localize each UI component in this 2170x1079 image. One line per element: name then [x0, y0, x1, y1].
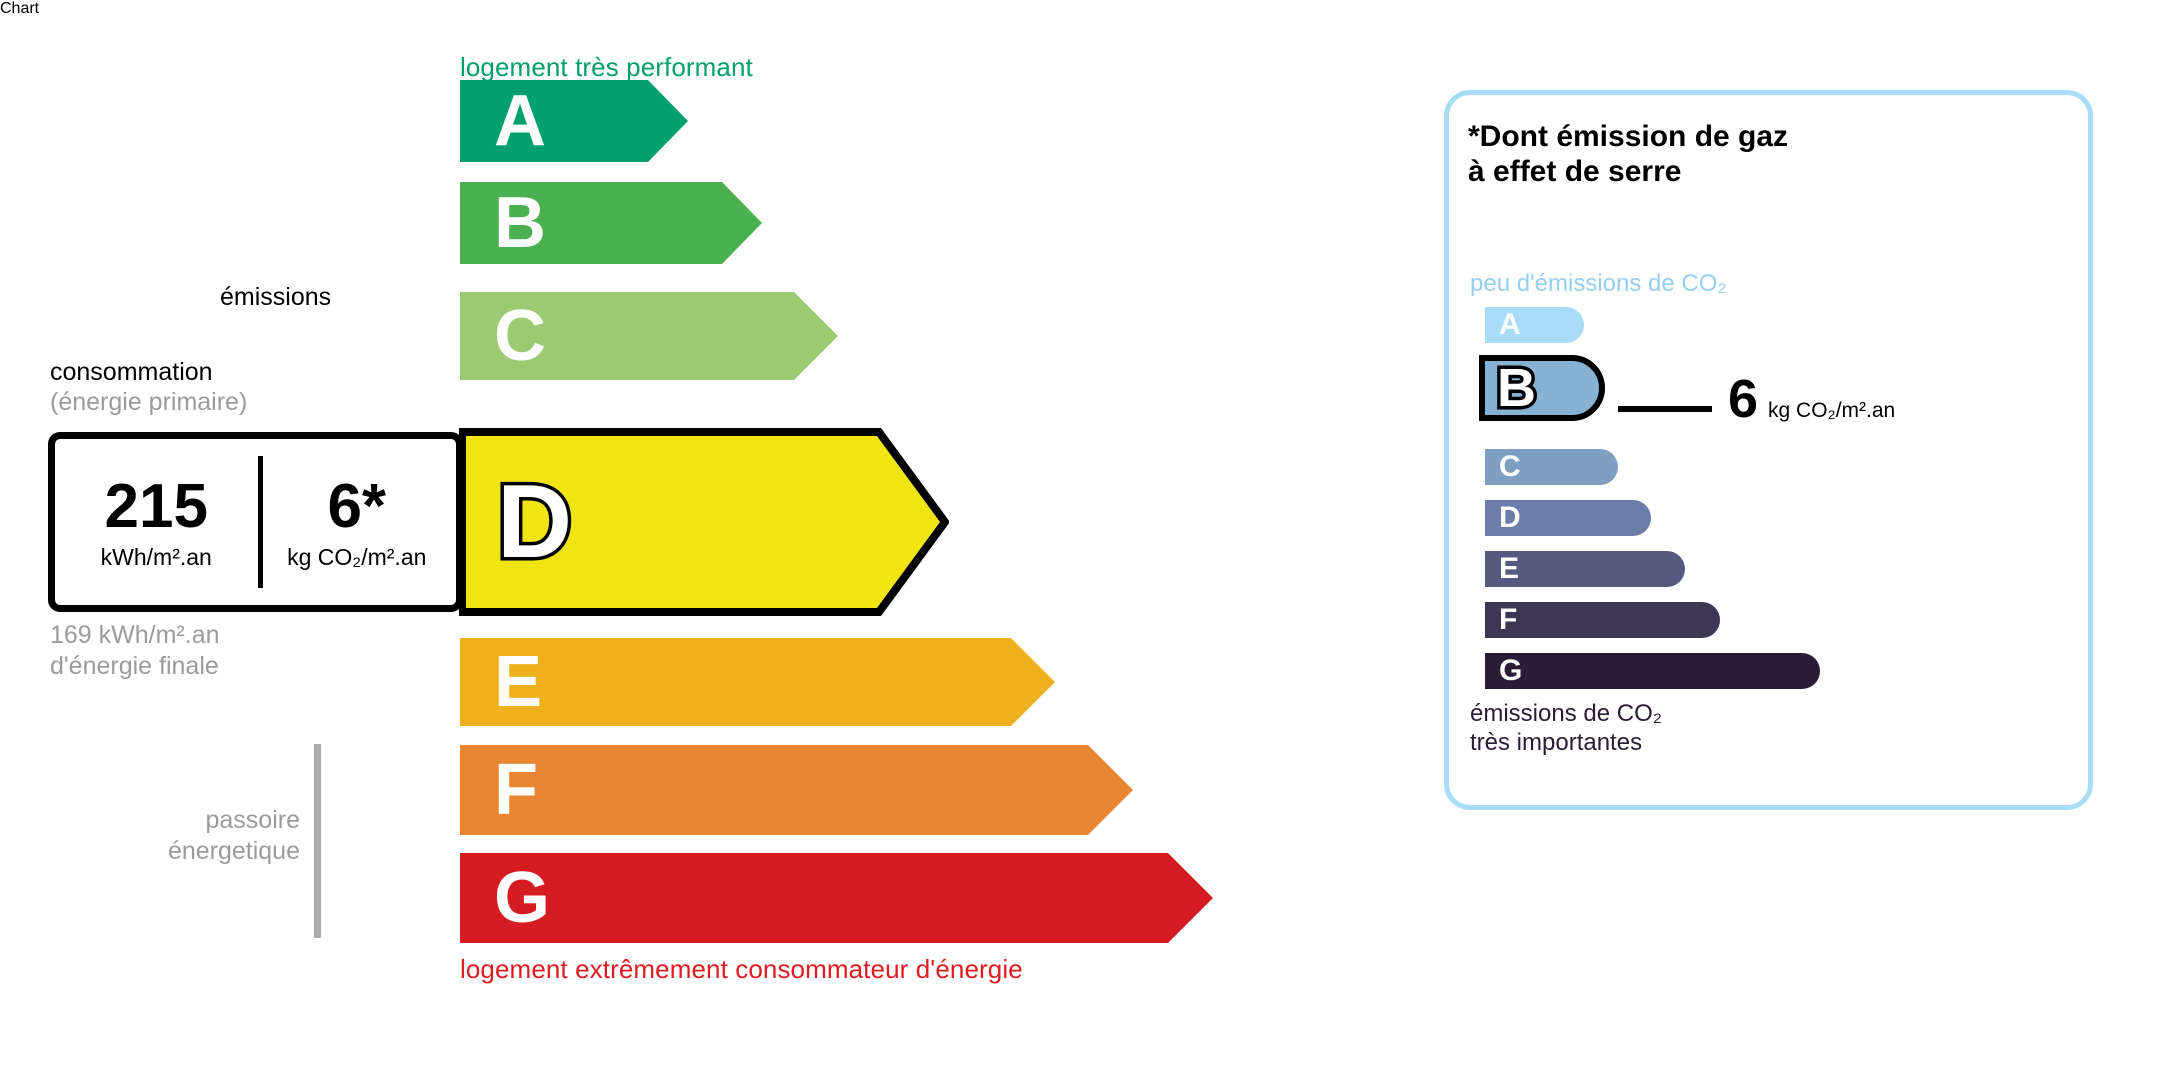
energy-band-g[interactable]: G [460, 853, 1213, 943]
emissions-label: émissions [220, 283, 331, 312]
co2-row-letter-e: E [1499, 554, 1519, 584]
final-energy-line2: d'énergie finale [50, 651, 220, 682]
band-arrow-g [460, 853, 1213, 943]
consumption-label-line2: (énergie primaire) [50, 388, 247, 418]
band-arrow-e [460, 638, 1055, 726]
co2-row-e[interactable]: E [1485, 551, 1685, 587]
co2-row-d[interactable]: D [1485, 500, 1651, 536]
co2-row-letter-d: D [1499, 503, 1521, 533]
energy-band-letter-b: B [494, 187, 546, 259]
passoire-line1: passoire [110, 805, 300, 836]
energy-band-letter-g: G [494, 862, 550, 934]
dpe-diagram: logement très performant A B C D E [0, 0, 2170, 1079]
energy-band-d-selected[interactable]: D [459, 428, 949, 616]
co2-bottom-caption: émissions de CO₂ très importantes [1470, 700, 1662, 758]
co2-row-letter-c: C [1499, 452, 1521, 482]
energy-bottom-caption: logement extrêmement consommateur d'éner… [460, 954, 1023, 985]
co2-row-letter-g: G [1499, 656, 1522, 686]
energy-top-caption: logement très performant [460, 52, 753, 83]
energy-band-letter-c: C [494, 300, 546, 372]
co2-leader-line [1618, 406, 1712, 412]
co2-row-c[interactable]: C [1485, 449, 1618, 485]
final-energy-line1: 169 kWh/m².an [50, 620, 220, 651]
passoire-bracket [314, 744, 321, 938]
co2-unit: kg CO₂/m².an [1768, 399, 1895, 423]
consumption-value: 215 [105, 476, 208, 538]
consumption-unit: kWh/m².an [101, 546, 212, 569]
co2-title-line1: *Dont émission de gaz [1468, 120, 1788, 155]
emissions-value: 6* [327, 476, 386, 538]
emissions-unit: kg CO₂/m².an [287, 546, 426, 569]
co2-bottom-line2: très importantes [1470, 729, 1662, 758]
co2-bottom-line1: émissions de CO₂ [1470, 700, 1662, 729]
energy-band-f[interactable]: F [460, 745, 1133, 835]
value-box: 215 kWh/m².an 6* kg CO₂/m².an [48, 432, 463, 612]
co2-value-callout: 6 kg CO₂/m².an [1728, 372, 1895, 426]
co2-row-f[interactable]: F [1485, 602, 1720, 638]
energy-band-a[interactable]: A [460, 80, 688, 162]
co2-row-letter-a: A [1499, 310, 1521, 340]
energy-band-c[interactable]: C [460, 292, 838, 380]
consumption-value-cell: 215 kWh/m².an [55, 439, 258, 605]
co2-panel-title: *Dont émission de gaz à effet de serre [1468, 120, 1788, 190]
emissions-value-cell: 6* kg CO₂/m².an [258, 439, 456, 605]
co2-top-caption: peu d'émissions de CO₂ [1470, 270, 1727, 298]
energy-band-letter-f: F [494, 754, 538, 826]
energy-band-letter-a: A [494, 85, 546, 157]
consumption-label: consommation (énergie primaire) [50, 358, 247, 417]
consumption-label-line1: consommation [50, 358, 247, 388]
co2-row-b-selected[interactable]: B [1479, 355, 1605, 421]
co2-value: 6 [1728, 372, 1758, 426]
passoire-label: passoire énergetique [110, 805, 300, 866]
passoire-line2: énergetique [110, 836, 300, 867]
energy-band-b[interactable]: B [460, 182, 762, 264]
co2-row-a[interactable]: A [1485, 307, 1584, 343]
energy-band-letter-e: E [494, 646, 542, 718]
co2-row-g[interactable]: G [1485, 653, 1820, 689]
co2-title-line2: à effet de serre [1468, 155, 1788, 190]
energy-band-e[interactable]: E [460, 638, 1055, 726]
co2-row-letter-f: F [1499, 605, 1517, 635]
co2-row-letter-b: B [1497, 361, 1536, 415]
energy-band-letter-d: D [497, 470, 572, 574]
final-energy-note: 169 kWh/m².an d'énergie finale [50, 620, 220, 681]
band-arrow-f [460, 745, 1133, 835]
